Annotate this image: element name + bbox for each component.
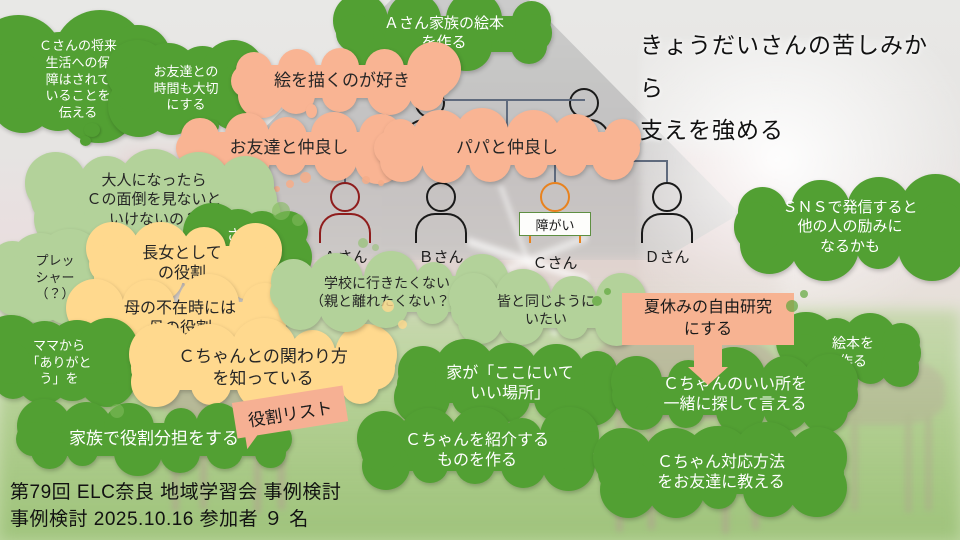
person-head-icon — [330, 182, 360, 212]
thought-dot — [300, 172, 311, 183]
cloud-friend-time[interactable]: お友達との 時間も大切 にする — [130, 50, 242, 128]
genogram-child-a: Ａさん — [318, 182, 372, 244]
bokeh-dot — [786, 300, 798, 312]
genogram-couple-line — [431, 99, 585, 101]
cloud-introduce-c[interactable]: Ｃちゃんを紹介する ものを作る — [370, 418, 584, 484]
person-head-icon — [540, 182, 570, 212]
slide-title: きょうだいさんの苦しみから 支えを強める — [640, 24, 950, 152]
summer-research-arrow-head — [688, 367, 728, 385]
person-head-icon — [652, 182, 682, 212]
cloud-mama-thanks[interactable]: ママから 「ありがと う」を — [4, 328, 114, 398]
bokeh-dot — [398, 320, 407, 329]
cloud-text: Ｃちゃんのいい所を 一緒に探して言える — [657, 375, 813, 416]
genogram-stem-d — [666, 160, 668, 182]
cloud-text: ママから 「ありがと う」を — [20, 338, 97, 388]
bokeh-dot — [372, 244, 379, 251]
disability-tag: 障がい — [519, 212, 591, 236]
summer-research-label: 夏休みの自由研究 にする — [644, 297, 772, 340]
cloud-text: 皆と同じように いたい — [491, 293, 601, 329]
genogram-child-d: Ｄさん — [640, 182, 694, 244]
cloud-text: パパと仲良し — [450, 137, 564, 159]
summer-research-arrow-stem — [694, 345, 722, 367]
cloud-teach-friends[interactable]: Ｃちゃん対応方法 をお友達に教える — [608, 438, 834, 508]
cloud-text: Ｃちゃんを紹介する ものを作る — [399, 431, 555, 472]
cloud-papa-good[interactable]: パパと仲良し — [378, 120, 636, 176]
summer-research-callout[interactable]: 夏休みの自由研究 にする — [622, 293, 794, 345]
role-list-pointer — [245, 434, 260, 449]
bokeh-dot — [358, 238, 368, 248]
cloud-knows-how[interactable]: Ｃちゃんとの関わり方 を知っている — [140, 332, 386, 404]
cloud-tail-c-future-small — [80, 136, 91, 146]
bokeh-dot — [292, 214, 304, 226]
thought-dot — [378, 180, 384, 186]
cloud-text: お友達との 時間も大切 にする — [147, 64, 224, 114]
thought-dot — [286, 180, 294, 188]
cloud-text: Ｃちゃん対応方法 をお友達に教える — [651, 453, 791, 494]
disability-tag-label: 障がい — [535, 215, 574, 234]
cloud-likes-drawing[interactable]: 絵を描くのが好き — [238, 52, 446, 110]
cloud-find-good[interactable]: Ｃちゃんのいい所を 一緒に探して言える — [620, 362, 850, 428]
bokeh-dot — [604, 288, 611, 295]
slide-footer: 第79回 ELC奈良 地域学習会 事例検討 事例検討 2025.10.16 参加… — [10, 479, 341, 534]
slide-canvas: きょうだいさんの苦しみから 支えを強める Ａさん Ｂさん — [0, 0, 960, 540]
bokeh-dot — [272, 202, 290, 220]
genogram-label-d: Ｄさん — [644, 246, 689, 267]
cloud-sns-post[interactable]: ＳＮＳで発信すると 他の人の励みに なるかも — [748, 186, 952, 268]
bokeh-dot — [382, 300, 394, 312]
cloud-text: 家族で役割分担をする — [63, 428, 245, 450]
cloud-text: Ｃちゃんとの関わり方 を知っている — [172, 346, 354, 390]
cloud-text: 家が「ここにいて いい場所」 — [440, 364, 580, 405]
genogram-label-c: Ｃさん — [532, 252, 577, 273]
bokeh-dot — [110, 404, 124, 418]
bokeh-dot — [592, 296, 602, 306]
bokeh-dot — [800, 290, 808, 298]
cloud-home-place[interactable]: 家が「ここにいて いい場所」 — [406, 352, 614, 416]
person-head-icon — [426, 182, 456, 212]
role-list-label: 役割リスト — [246, 393, 334, 431]
cloud-eldest-role[interactable]: 長女として の役割 — [100, 232, 264, 296]
cloud-tail-c-future — [84, 123, 100, 137]
thought-dot — [362, 176, 370, 184]
person-body-icon — [415, 213, 467, 243]
cloud-text: ＳＮＳで発信すると 他の人の励みに なるかも — [776, 198, 923, 256]
cloud-text: 絵を描くのが好き — [268, 70, 416, 92]
genogram-child-b: Ｂさん — [414, 182, 468, 244]
cloud-tail-likes-drawing — [306, 104, 317, 118]
person-body-icon — [641, 213, 693, 243]
